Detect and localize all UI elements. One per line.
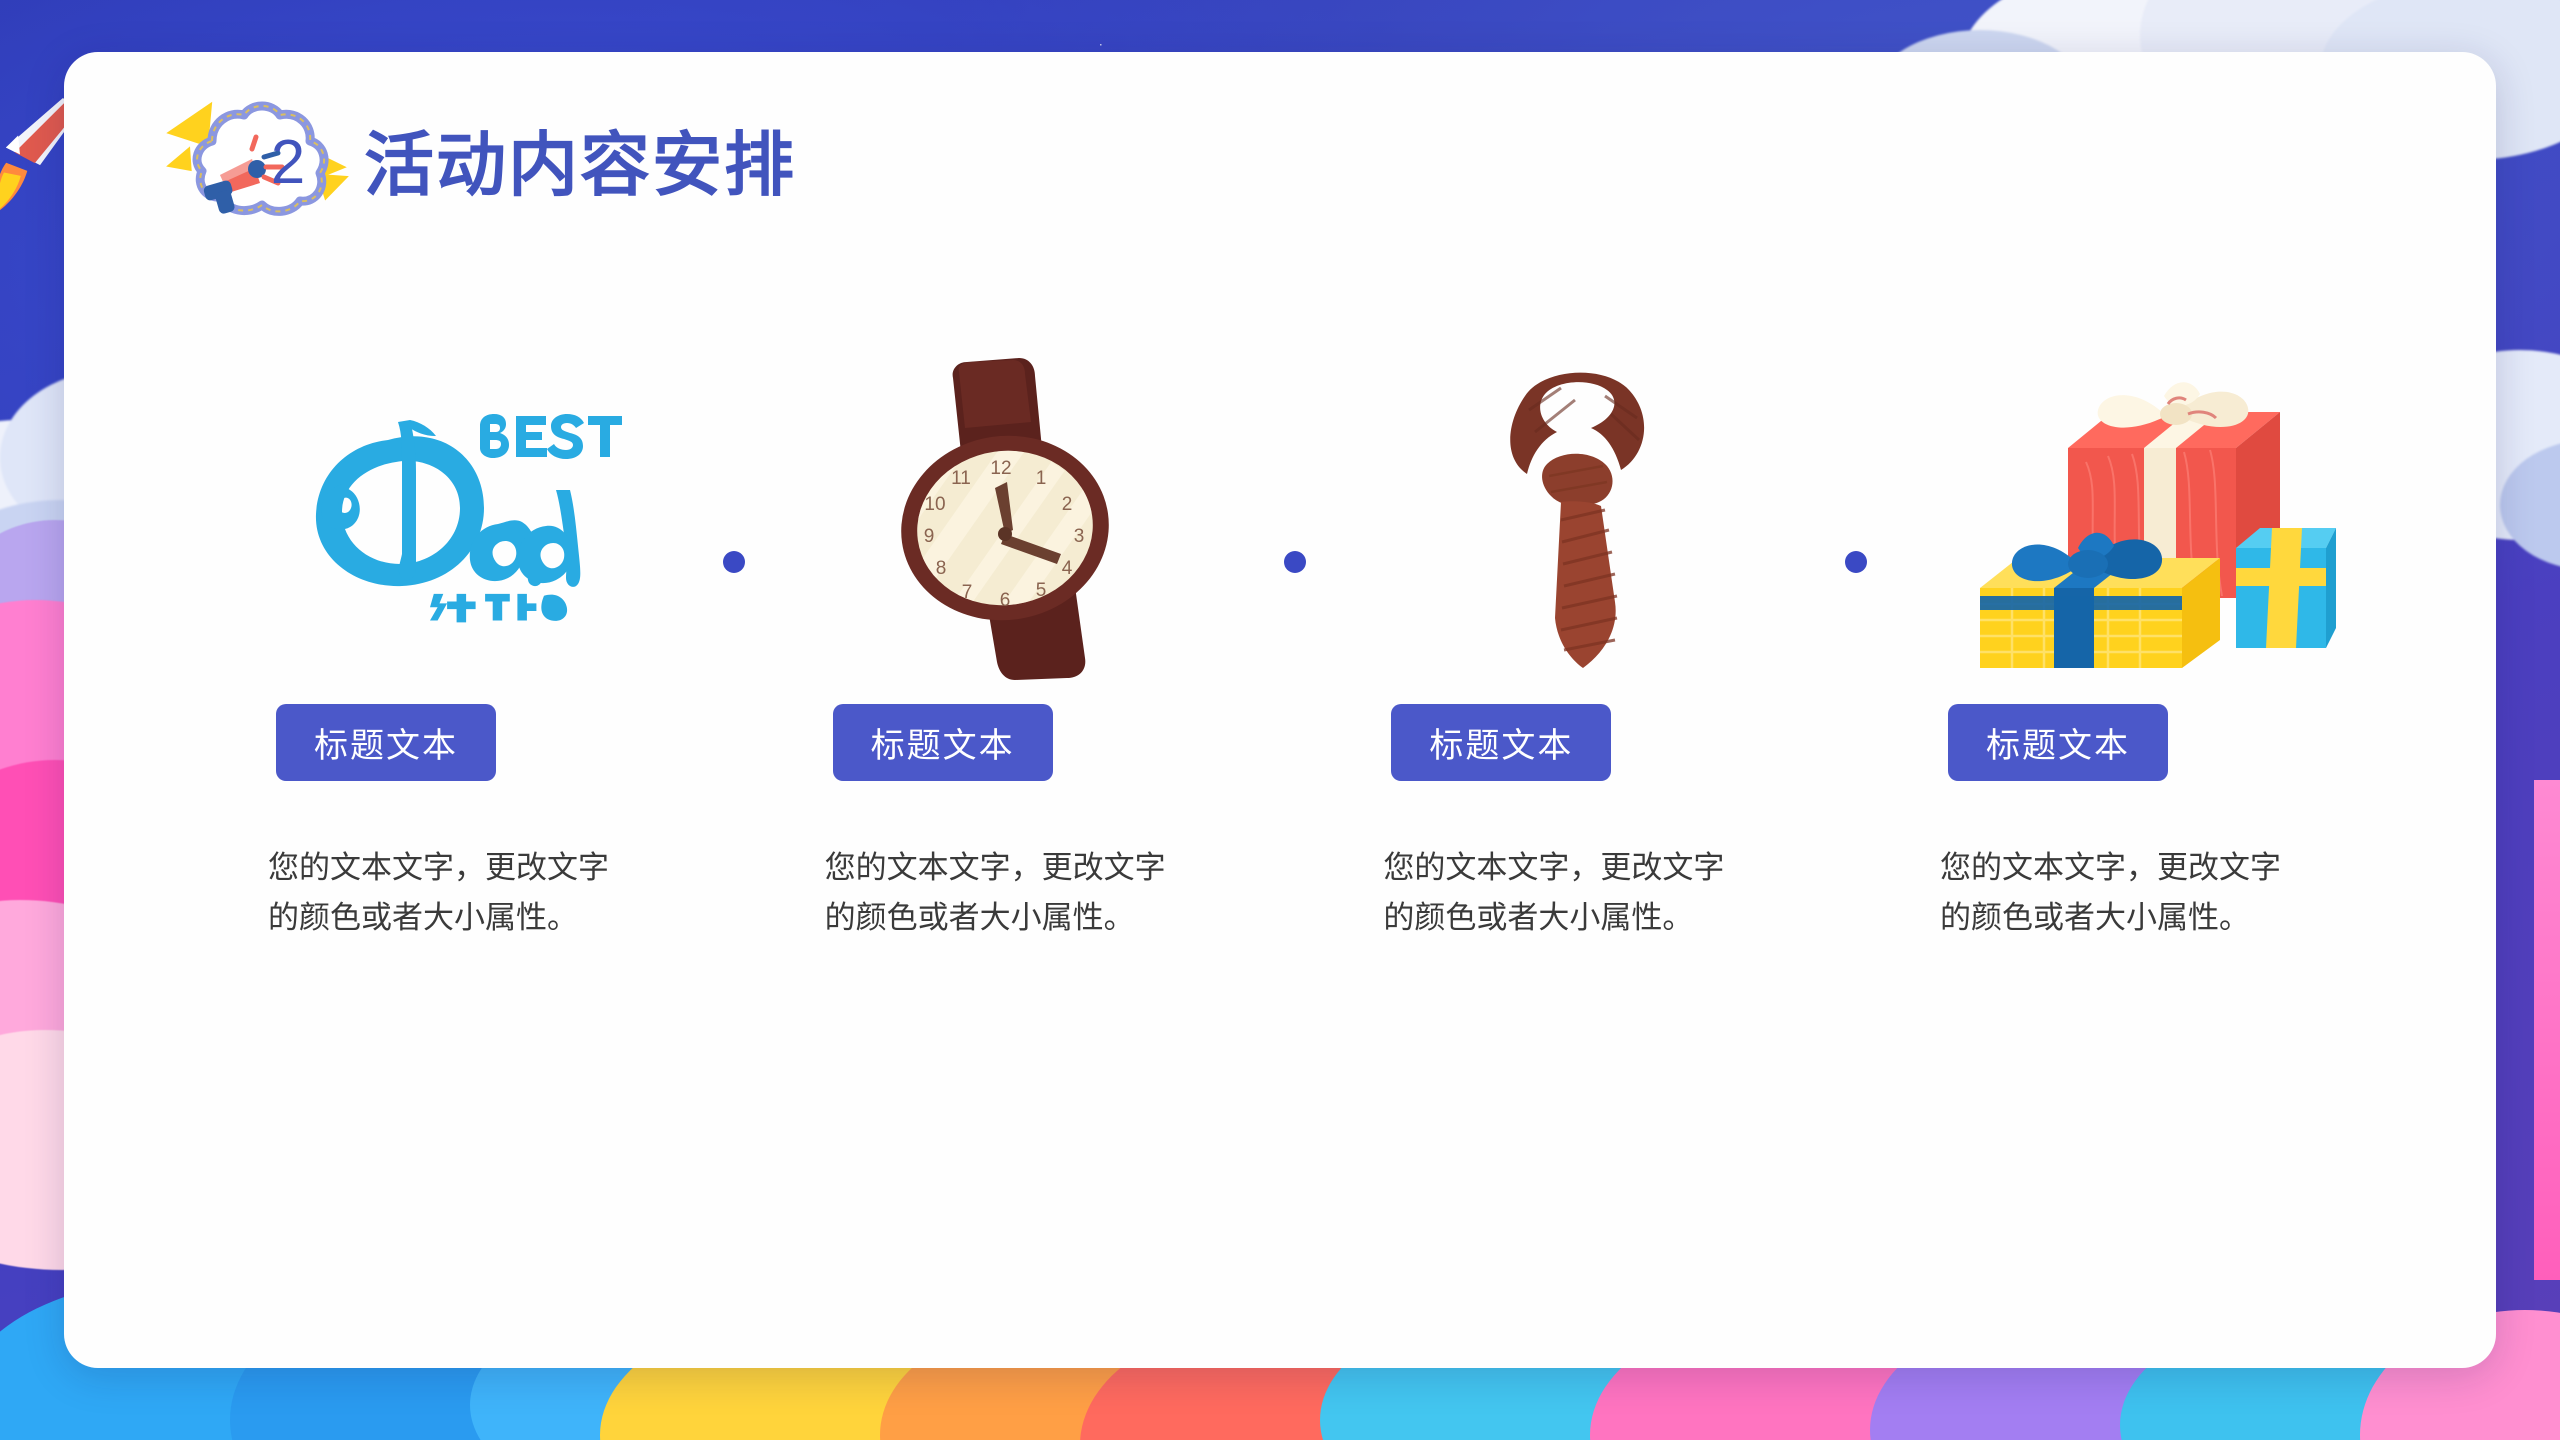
gift-boxes-art	[1896, 352, 2376, 682]
gift-boxes-icon	[1936, 352, 2336, 682]
column-title-pill[interactable]: 标题文本	[276, 704, 496, 781]
column-title-pill[interactable]: 标题文本	[1391, 704, 1611, 781]
column-separator	[1255, 352, 1336, 772]
content-columns: 标题文本 您的文本文字，更改文字的颜色或者大小属性。	[214, 352, 2376, 943]
content-column: 标题文本 您的文本文字，更改文字的颜色或者大小属性。	[214, 352, 694, 943]
content-column: 12 1 2 3 4 5 6 7 8 9 10 11	[775, 352, 1255, 943]
svg-text:12: 12	[990, 458, 1011, 479]
wristwatch-art: 12 1 2 3 4 5 6 7 8 9 10 11	[775, 352, 1255, 682]
right-edge-pink-strip	[2534, 780, 2560, 1280]
svg-text:8: 8	[935, 558, 946, 579]
necktie-icon	[1465, 352, 1685, 682]
page-title: 活动内容安排	[364, 130, 796, 200]
svg-text:5: 5	[1035, 580, 1046, 601]
slide-card: 2 活动内容安排	[64, 52, 2496, 1368]
column-title-pill[interactable]: 标题文本	[1948, 704, 2168, 781]
svg-text:11: 11	[951, 468, 971, 489]
content-column: 标题文本 您的文本文字，更改文字的颜色或者大小属性。	[1335, 352, 1815, 943]
svg-text:4: 4	[1061, 558, 1072, 579]
necktie-art	[1335, 352, 1815, 682]
svg-text:10: 10	[924, 494, 945, 515]
section-number-badge: 2	[160, 95, 350, 235]
separator-dot-icon	[1284, 551, 1306, 573]
content-column: 标题文本 您的文本文字，更改文字的颜色或者大小属性。	[1896, 352, 2376, 943]
svg-text:3: 3	[1073, 526, 1084, 547]
column-body-text: 您的文本文字，更改文字的颜色或者大小属性。	[1383, 843, 1753, 943]
column-body-text: 您的文本文字，更改文字的颜色或者大小属性。	[268, 843, 638, 943]
svg-text:9: 9	[923, 526, 934, 547]
wristwatch-icon: 12 1 2 3 4 5 6 7 8 9 10 11	[895, 352, 1135, 682]
separator-dot-icon	[1845, 551, 1867, 573]
section-number: 2	[271, 128, 305, 197]
separator-dot-icon	[723, 551, 745, 573]
column-title-pill[interactable]: 标题文本	[833, 704, 1053, 781]
column-separator	[1815, 352, 1896, 772]
slide-header: 2 活动内容安排	[160, 100, 796, 230]
svg-text:7: 7	[961, 582, 972, 603]
column-body-text: 您的文本文字，更改文字的颜色或者大小属性。	[825, 843, 1195, 943]
column-separator	[694, 352, 775, 772]
svg-text:6: 6	[999, 590, 1010, 611]
svg-text:2: 2	[1061, 494, 1072, 515]
best-dad-logo-art	[214, 352, 694, 682]
column-body-text: 您的文本文字，更改文字的颜色或者大小属性。	[1940, 843, 2310, 943]
cloud-badge-icon: 2	[160, 95, 350, 235]
best-dad-logo-icon	[284, 392, 624, 642]
svg-text:1: 1	[1035, 468, 1046, 489]
